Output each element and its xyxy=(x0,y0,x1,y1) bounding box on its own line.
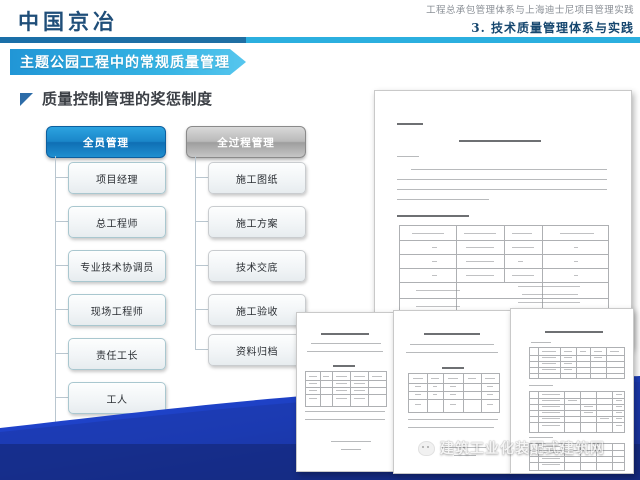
brand-logo-text: 中国京冶 xyxy=(18,6,118,36)
header-subtitle: 工程总承包管理体系与上海迪士尼项目管理实践 xyxy=(426,2,634,16)
org-node[interactable]: 施工方案 xyxy=(208,206,306,238)
org-node-label: 施工方案 xyxy=(236,215,278,230)
topic-banner-label: 主题公园工程中的常规质量管理 xyxy=(10,52,230,72)
org-column-header-gray[interactable]: 全过程管理 xyxy=(186,126,306,158)
wechat-logo-icon xyxy=(418,441,435,456)
org-node[interactable]: 专业技术协调员 xyxy=(68,250,166,282)
org-elbow xyxy=(55,221,68,222)
document-thumbnail[interactable] xyxy=(296,312,394,472)
org-node[interactable]: 技术交底 xyxy=(208,250,306,282)
section-heading: 质量控制管理的奖惩制度 xyxy=(20,88,213,109)
org-elbow xyxy=(55,309,68,310)
org-elbow xyxy=(55,177,68,178)
org-node-label: 施工图纸 xyxy=(236,171,278,186)
org-node[interactable]: 现场工程师 xyxy=(68,294,166,326)
org-elbow xyxy=(195,177,208,178)
org-elbow xyxy=(55,265,68,266)
org-node[interactable]: 施工图纸 xyxy=(208,162,306,194)
org-node-label: 技术交底 xyxy=(236,259,278,274)
document-table xyxy=(408,373,500,413)
org-node[interactable]: 施工验收 xyxy=(208,294,306,326)
slide-root: 中国京冶 工程总承包管理体系与上海迪士尼项目管理实践 3. 技术质量管理体系与实… xyxy=(0,0,640,480)
org-column-quanyuan: 全员管理 项目经理 总工程师 专业技术协调员 现场工程师 责任工长 工人 分包单… xyxy=(46,126,164,158)
org-column-quanguocheng: 全过程管理 施工图纸 施工方案 技术交底 施工验收 资料归档 xyxy=(186,126,304,158)
topic-banner: 主题公园工程中的常规质量管理 xyxy=(10,49,246,75)
org-node-label: 责任工长 xyxy=(96,347,138,362)
org-node[interactable]: 资料归档 xyxy=(208,334,306,366)
header-divider-left xyxy=(0,37,246,43)
org-node-label: 专业技术协调员 xyxy=(80,259,154,274)
document-table xyxy=(529,347,625,379)
org-node-label: 施工验收 xyxy=(236,303,278,318)
org-elbow xyxy=(195,349,208,350)
header-chapter-title: 3. 技术质量管理体系与实践 xyxy=(426,19,634,36)
document-table xyxy=(399,225,609,315)
org-column-header-label: 全过程管理 xyxy=(217,135,275,150)
org-node[interactable]: 项目经理 xyxy=(68,162,166,194)
document-table xyxy=(305,371,387,407)
org-column-header-label: 全员管理 xyxy=(83,135,129,150)
org-elbow xyxy=(195,265,208,266)
org-column-header-blue[interactable]: 全员管理 xyxy=(46,126,166,158)
org-node-label: 项目经理 xyxy=(96,171,138,186)
header-divider-right xyxy=(246,37,640,43)
triangle-bullet-icon xyxy=(20,93,33,106)
org-node[interactable]: 责任工长 xyxy=(68,338,166,370)
section-heading-label: 质量控制管理的奖惩制度 xyxy=(42,88,213,109)
org-elbow xyxy=(55,353,68,354)
site-watermark: 建筑工业化装配式建筑网 xyxy=(418,438,605,458)
document-table xyxy=(529,391,625,433)
org-node-label: 现场工程师 xyxy=(91,303,144,318)
org-elbow xyxy=(195,309,208,310)
header-right-block: 工程总承包管理体系与上海迪士尼项目管理实践 3. 技术质量管理体系与实践 xyxy=(426,2,634,36)
org-node-label: 总工程师 xyxy=(96,215,138,230)
org-node[interactable]: 总工程师 xyxy=(68,206,166,238)
site-watermark-label: 建筑工业化装配式建筑网 xyxy=(440,438,605,458)
org-node-label: 资料归档 xyxy=(236,343,278,358)
org-elbow xyxy=(195,221,208,222)
org-stem-b xyxy=(195,156,196,350)
